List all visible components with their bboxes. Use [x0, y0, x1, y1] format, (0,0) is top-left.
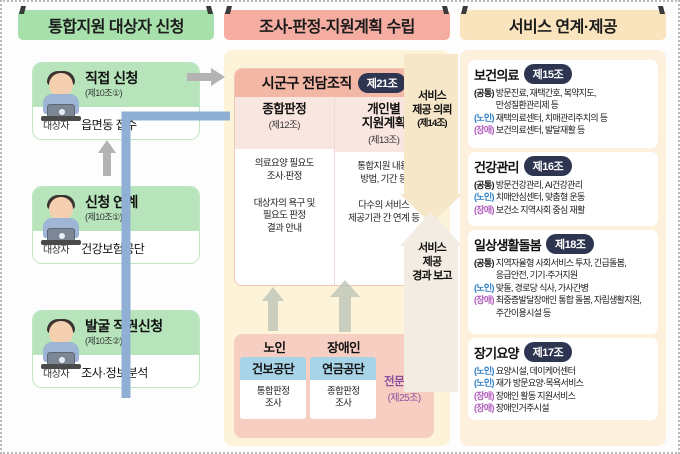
org-nhis[interactable]: 건보공단 통합판정 조사 — [240, 357, 306, 419]
service-text: 치매안심센터, 맞춤형 운동 — [496, 191, 652, 203]
org-work: 종합판정 조사 — [310, 380, 376, 419]
tag-common: (공통) — [474, 257, 494, 282]
tag-disability: (장애) — [474, 402, 494, 414]
service-text: 최중증발달장애인 통합 돌봄, 자립생활지원, 주간이용시설 등 — [496, 294, 652, 319]
agency-column-comprehensive: 종합판정 (제12조) 의료요양 필요도 조사·판정 대상자의 욕구 및 필요도… — [235, 97, 334, 286]
banner-service-provision: 서비스 연계·제공 — [460, 10, 666, 40]
service-line: (공통)지역자율형 사회서비스 투자, 긴급돌봄, 응급안전, 기기·주거지원 — [474, 257, 652, 282]
org-work: 통합판정 조사 — [240, 380, 306, 419]
agency-column-header: 종합판정 (제12조) — [235, 97, 334, 149]
arrow-service-report — [400, 212, 462, 392]
banner-assessment: 조사-판정-지원계획 수립 — [224, 10, 450, 40]
arrow-up-nhis-to-agency — [262, 287, 284, 331]
service-line: (장애)보건소 지역사회 중심 재활 — [474, 204, 652, 216]
tag-senior: (노인) — [474, 112, 494, 124]
service-title: 일상생활돌봄 — [474, 235, 541, 254]
tag-senior: (노인) — [474, 377, 494, 389]
diagram-canvas: 통신 통합지원 대상자 신청 직접 신청 (제10조①) 대상자 읍면동 접수 — [0, 0, 680, 454]
category-senior: 노인 — [240, 337, 309, 356]
service-text: 요양시설, 데이케어센터 — [496, 365, 652, 377]
agency-article-badge: 제21조 — [358, 73, 406, 93]
agency-title: 시군구 전담조직 — [262, 73, 352, 93]
org-name: 건보공단 — [240, 357, 306, 380]
agency-column-body: 의료요양 필요도 조사·판정 대상자의 욕구 및 필요도 판정 결과 안내 — [235, 149, 334, 286]
service-article-badge: 제15조 — [524, 64, 572, 84]
service-line: (노인)요양시설, 데이케어센터 — [474, 365, 652, 377]
service-line: (노인)맞돌, 경로당 식사, 가사간병 — [474, 282, 652, 294]
service-card-healthcare[interactable]: 보건의료 제15조 (공통)방문진료, 재택간호, 복약지도, 만성질환관리제 … — [468, 60, 658, 148]
service-line: (장애)장애인거주시설 — [474, 402, 652, 414]
card-title: 직접 신청 — [85, 71, 138, 86]
label-line-1: 서비스 — [406, 242, 458, 256]
service-text: 재가 방문요양·목욕서비스 — [496, 377, 652, 389]
service-card-long-term-care[interactable]: 장기요양 제17조 (노인)요양시설, 데이케어센터 (노인)재가 방문요양·목… — [468, 338, 658, 420]
tag-disability: (장애) — [474, 124, 494, 136]
tag-senior: (노인) — [474, 282, 494, 294]
agency-item: 대상자의 욕구 및 필요도 판정 결과 안내 — [238, 198, 331, 236]
service-panel: 보건의료 제15조 (공통)방문진료, 재택간호, 복약지도, 만성질환관리제 … — [460, 50, 666, 446]
tag-common: (공통) — [474, 179, 494, 191]
service-text: 장애인 활동 지원서비스 — [496, 390, 652, 402]
service-line: (장애)보건의료센터, 발달재활 등 — [474, 124, 652, 136]
service-text: 장애인거주시설 — [496, 402, 652, 414]
tag-senior: (노인) — [474, 191, 494, 203]
banner-application: 통합지원 대상자 신청 — [18, 10, 214, 40]
category-disability: 장애인 — [309, 337, 378, 356]
service-article-badge: 제18조 — [546, 234, 594, 254]
tag-senior: (노인) — [474, 365, 494, 377]
agency-column-title: 종합판정 — [237, 102, 332, 116]
service-text: 재택의료센터, 치매관리주치의 등 — [496, 112, 652, 124]
service-text: 보건의료센터, 발달재활 등 — [496, 124, 652, 136]
person-laptop-icon — [41, 71, 81, 127]
service-text: 지역자율형 사회서비스 투자, 긴급돌봄, 응급안전, 기기·주거지원 — [496, 257, 652, 282]
label-line-2: 제공 의뢰 — [406, 104, 458, 118]
agency-item: 의료요양 필요도 조사·판정 — [238, 158, 331, 184]
service-article-badge: 제17조 — [524, 342, 572, 362]
service-text: 방문진료, 재택간호, 복약지도, 만성질환관리제 등 — [496, 87, 652, 112]
service-line: (노인)재택의료센터, 치매관리주치의 등 — [474, 112, 652, 124]
service-line: (공통)방문건강관리, AI건강관리 — [474, 179, 652, 191]
arrow-feedback-to-applicant — [106, 102, 230, 412]
service-title: 장기요양 — [474, 343, 519, 362]
service-title: 건강관리 — [474, 157, 519, 176]
arrow-up-nps-to-agency — [330, 280, 360, 332]
agency-column-article: (제12조) — [237, 117, 332, 131]
service-card-daily-life-care[interactable]: 일상생활돌봄 제18조 (공통)지역자율형 사회서비스 투자, 긴급돌봄, 응급… — [468, 230, 658, 334]
service-text: 맞돌, 경로당 식사, 가사간병 — [496, 282, 652, 294]
service-line: (장애)장애인 활동 지원서비스 — [474, 390, 652, 402]
service-text: 보건소 지역사회 중심 재활 — [496, 204, 652, 216]
tag-common: (공통) — [474, 87, 494, 112]
label-line-3: 경과 보고 — [406, 270, 458, 284]
org-nps[interactable]: 연금공단 종합판정 조사 — [310, 357, 376, 419]
label-service-report: 서비스 제공 경과 보고 — [406, 242, 458, 283]
service-line: (노인)치매안심센터, 맞춤형 운동 — [474, 191, 652, 203]
card-article: (제10조①) — [85, 86, 138, 99]
service-text: 방문건강관리, AI건강관리 — [496, 179, 652, 191]
service-line: (노인)재가 방문요양·목욕서비스 — [474, 377, 652, 389]
org-name: 연금공단 — [310, 357, 376, 380]
person-laptop-icon — [41, 195, 81, 251]
column-service-provision: 서비스 연계·제공 보건의료 제15조 (공통)방문진료, 재택간호, 복약지도… — [460, 10, 666, 446]
tag-disability: (장애) — [474, 294, 494, 319]
service-article-badge: 제16조 — [524, 156, 572, 176]
label-line-1: 서비스 — [406, 90, 458, 104]
label-line-3: (제14조) — [406, 118, 458, 130]
service-line: (공통)방문진료, 재택간호, 복약지도, 만성질환관리제 등 — [474, 87, 652, 112]
arrow-service-request — [400, 54, 462, 224]
tag-disability: (장애) — [474, 204, 494, 216]
service-card-health-management[interactable]: 건강관리 제16조 (공통)방문건강관리, AI건강관리 (노인)치매안심센터,… — [468, 152, 658, 226]
arrow-application-to-assessment — [187, 68, 225, 86]
label-service-request: 서비스 제공 의뢰 (제14조) — [406, 90, 458, 129]
label-line-2: 제공 — [406, 256, 458, 270]
service-line: (장애)최중증발달장애인 통합 돌봄, 자립생활지원, 주간이용시설 등 — [474, 294, 652, 319]
service-title: 보건의료 — [474, 65, 519, 84]
person-laptop-icon — [41, 319, 81, 375]
tag-disability: (장애) — [474, 390, 494, 402]
